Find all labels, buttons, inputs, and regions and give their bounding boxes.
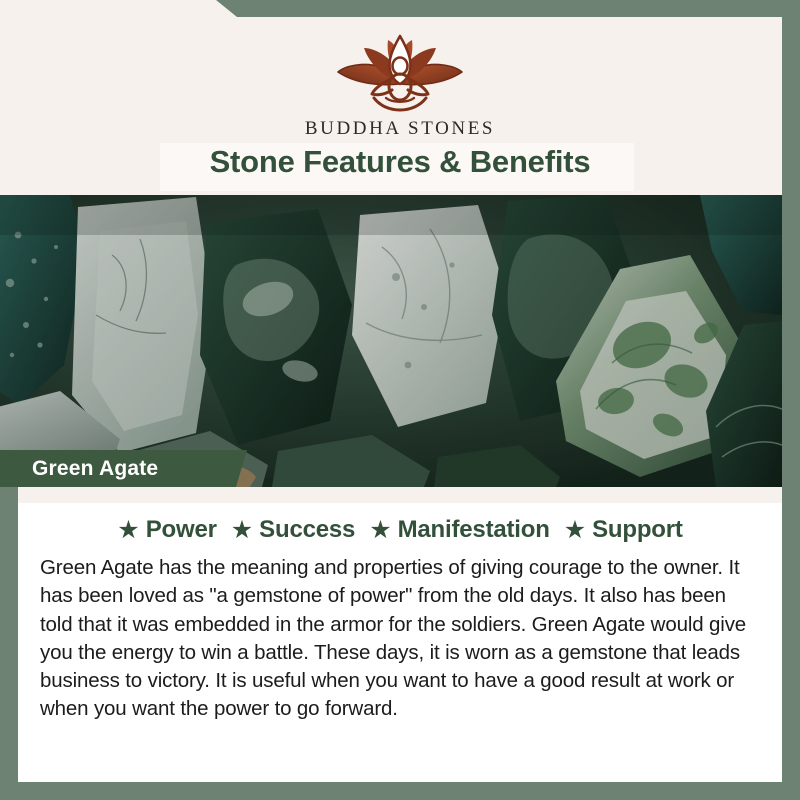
keyword-label: Success [259, 516, 355, 544]
keyword-label: Power [146, 516, 217, 544]
stone-name-label: Green Agate [32, 457, 158, 481]
keyword-list: ★ Power ★ Success ★ Manifestation ★ Supp… [40, 516, 760, 544]
stone-name-banner: Green Agate [0, 450, 250, 487]
brand-logo: BUDDHA STONES [0, 24, 800, 140]
poster-canvas: BUDDHA STONES Stone Features & Benefits [0, 0, 800, 800]
page-title: Stone Features & Benefits [0, 144, 800, 180]
stone-photo-illustration [0, 195, 782, 487]
brand-name: BUDDHA STONES [305, 118, 495, 140]
star-icon: ★ [369, 518, 391, 543]
keyword-item-success: ★ Success [231, 516, 355, 544]
keyword-item-manifestation: ★ Manifestation [369, 516, 550, 544]
lotus-meditation-icon [316, 24, 484, 112]
star-icon: ★ [231, 518, 253, 543]
star-icon: ★ [564, 518, 586, 543]
content-top-strip [18, 487, 782, 503]
keyword-item-support: ★ Support [564, 516, 683, 544]
content-inner: ★ Power ★ Success ★ Manifestation ★ Supp… [18, 503, 782, 782]
keyword-item-power: ★ Power [117, 516, 216, 544]
stone-description: Green Agate has the meaning and properti… [40, 554, 760, 724]
content-panel: ★ Power ★ Success ★ Manifestation ★ Supp… [18, 487, 782, 782]
green-agate-photo [0, 195, 782, 487]
keyword-label: Manifestation [398, 516, 550, 544]
star-icon: ★ [117, 518, 139, 543]
keyword-label: Support [592, 516, 683, 544]
